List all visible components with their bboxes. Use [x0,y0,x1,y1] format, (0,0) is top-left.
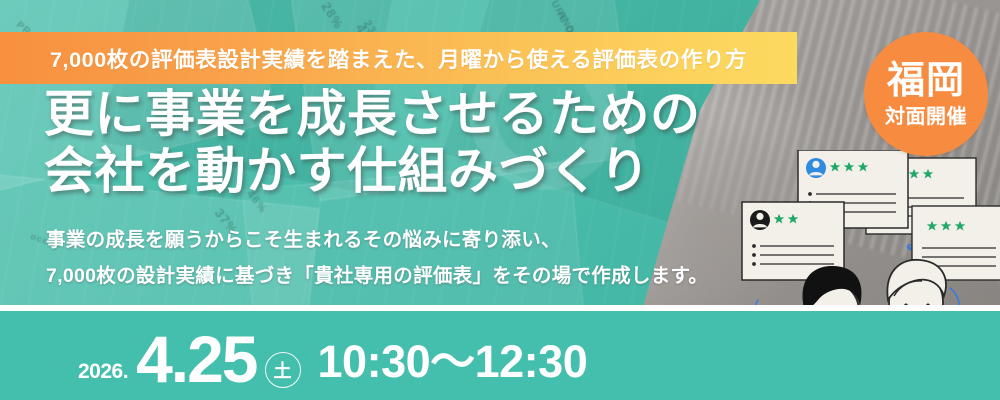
headline-line-1: 更に事業を成長させるための [44,86,701,143]
event-banner: 28% 41% 37% 23% 9% 46% FUTURE OF RE AND … [0,0,1000,400]
avatar-blue-icon [806,158,826,178]
strap-text: 7,000枚の評価表設計実績を踏まえた、月曜から使える評価表の作り方 [50,43,747,74]
event-year: 2026. [78,360,128,400]
page-title: 更に事業を成長させるための 会社を動かす仕組みづくり [44,86,701,200]
badge-location-label: 福岡 [887,62,965,100]
event-dayofweek-badge: 土 [265,352,301,388]
avatar-black-icon [750,210,770,230]
lead-copy: 事業の成長を願うからこそ生まれるその悩みに寄り添い、 7,000枚の設計実績に基… [46,222,708,294]
event-date: 4.25 [136,326,256,400]
subtitle-strap: 7,000枚の評価表設計実績を踏まえた、月曜から使える評価表の作り方 [0,32,797,84]
event-time: 10:30〜12:30 [318,325,588,400]
event-datetime: 2026. 4.25 土 10:30〜12:30 [0,311,1000,400]
lead-line-1: 事業の成長を願うからこそ生まれるその悩みに寄り添い、 [46,222,708,258]
headline-line-2: 会社を動かす仕組みづくり [44,143,701,200]
status-badge: 福岡 対面開催 [864,32,988,156]
badge-format-label: 対面開催 [885,107,967,127]
lead-line-2: 7,000枚の設計実績に基づき「貴社専用の評価表」をその場で作成します。 [46,258,708,294]
